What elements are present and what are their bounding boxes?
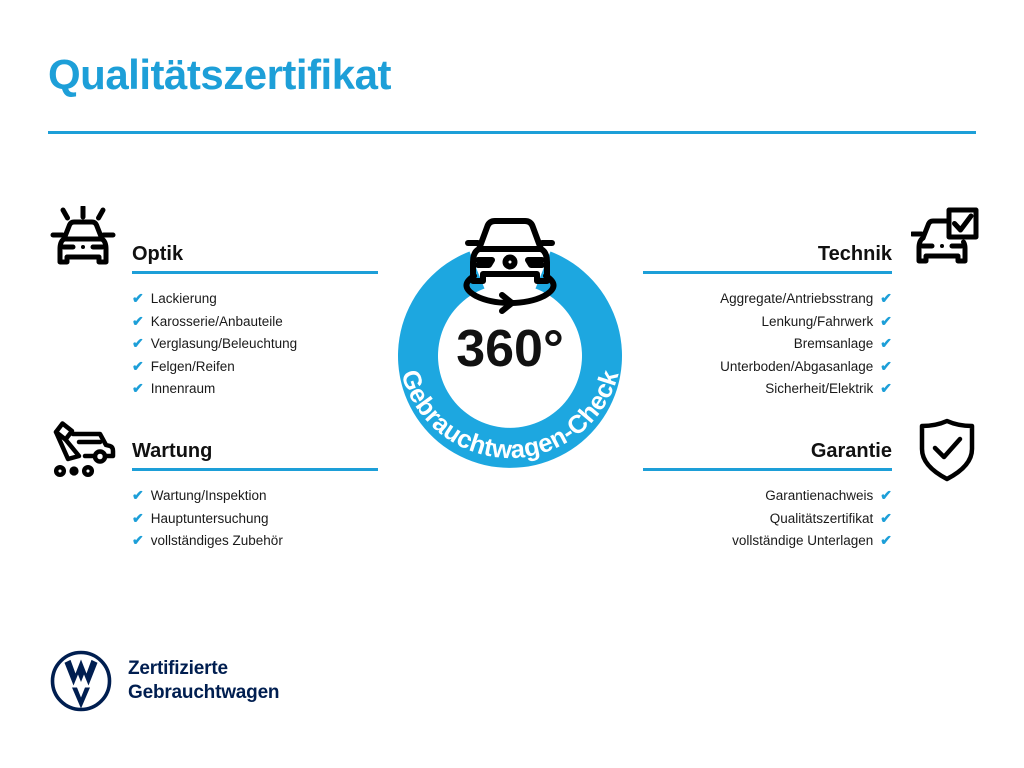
section-technik-list: Aggregate/Antriebsstrang ✔ Lenkung/Fahrw… [643, 288, 892, 401]
check-icon: ✔ [132, 314, 144, 328]
check-icon: ✔ [132, 336, 144, 350]
check-icon: ✔ [880, 488, 892, 502]
check-icon: ✔ [132, 511, 144, 525]
list-item: ✔ Wartung/Inspektion [132, 485, 378, 508]
check-icon: ✔ [880, 359, 892, 373]
check-icon: ✔ [132, 359, 144, 373]
check-icon: ✔ [880, 533, 892, 547]
shield-check-icon [918, 418, 976, 482]
list-item-label: Sicherheit/Elektrik [765, 378, 873, 401]
title-divider [48, 131, 976, 134]
list-item: vollständige Unterlagen ✔ [643, 530, 892, 553]
list-item-label: Bremsanlage [794, 333, 874, 356]
list-item-label: Felgen/Reifen [151, 356, 235, 379]
list-item: ✔ Hauptuntersuchung [132, 508, 378, 531]
badge-center-label: 360° [456, 320, 564, 378]
section-optik-title: Optik [132, 243, 183, 266]
section-garantie-title: Garantie [811, 440, 892, 463]
list-item: ✔ Verglasung/Beleuchtung [132, 333, 378, 356]
check-icon: ✔ [880, 336, 892, 350]
footer-text: Zertifizierte Gebrauchtwagen [128, 657, 279, 706]
list-item-label: vollständiges Zubehör [151, 530, 283, 553]
section-garantie-list: Garantienachweis ✔ Qualitätszertifikat ✔… [643, 485, 892, 553]
list-item-label: Innenraum [151, 378, 216, 401]
section-wartung-header: Wartung [132, 431, 378, 471]
section-garantie-header: Garantie [643, 431, 892, 471]
badge-360-gebrauchtwagen-check: Gebrauchtwagen-Check 360° [360, 196, 660, 496]
list-item: ✔ vollständiges Zubehör [132, 530, 378, 553]
list-item: Garantienachweis ✔ [643, 485, 892, 508]
list-item: ✔ Lackierung [132, 288, 378, 311]
certificate-page: Qualitätszertifikat Optik [0, 0, 1024, 768]
section-technik: Technik Aggregate/Antriebsstrang ✔ Lenku… [643, 234, 892, 401]
list-item-label: Verglasung/Beleuchtung [151, 333, 297, 356]
section-wartung-title: Wartung [132, 440, 212, 463]
list-item: ✔ Felgen/Reifen [132, 356, 378, 379]
list-item-label: Karosserie/Anbauteile [151, 311, 283, 334]
car-shine-icon [48, 206, 118, 272]
list-item: Aggregate/Antriebsstrang ✔ [643, 288, 892, 311]
list-item-label: Lenkung/Fahrwerk [761, 311, 873, 334]
section-wartung-list: ✔ Wartung/Inspektion ✔ Hauptuntersuchung… [132, 485, 378, 553]
list-item-label: Unterboden/Abgasanlage [720, 356, 873, 379]
list-item-label: vollständige Unterlagen [732, 530, 873, 553]
car-rotation-icon [466, 221, 553, 311]
section-wartung: Wartung ✔ Wartung/Inspektion ✔ Hauptunte… [132, 431, 378, 553]
list-item-label: Qualitätszertifikat [770, 508, 874, 531]
vw-certified-logo: Zertifizierte Gebrauchtwagen [50, 650, 279, 712]
section-garantie-divider [643, 468, 892, 471]
list-item: ✔ Karosserie/Anbauteile [132, 311, 378, 334]
section-wartung-divider [132, 468, 378, 471]
list-item: ✔ Innenraum [132, 378, 378, 401]
footer-line-1: Zertifizierte [128, 657, 279, 681]
list-item-label: Hauptuntersuchung [151, 508, 269, 531]
list-item-label: Aggregate/Antriebsstrang [720, 288, 873, 311]
car-checkbox-icon [911, 207, 979, 271]
list-item: Bremsanlage ✔ [643, 333, 892, 356]
section-technik-header: Technik [643, 234, 892, 274]
section-optik-list: ✔ Lackierung ✔ Karosserie/Anbauteile ✔ V… [132, 288, 378, 401]
list-item: Sicherheit/Elektrik ✔ [643, 378, 892, 401]
section-optik-header: Optik [132, 234, 378, 274]
list-item-label: Wartung/Inspektion [151, 485, 267, 508]
check-icon: ✔ [880, 314, 892, 328]
car-pencil-service-icon [48, 418, 118, 478]
list-item-label: Garantienachweis [765, 485, 873, 508]
check-icon: ✔ [132, 488, 144, 502]
list-item: Lenkung/Fahrwerk ✔ [643, 311, 892, 334]
page-title: Qualitätszertifikat [48, 52, 391, 98]
check-icon: ✔ [132, 381, 144, 395]
footer-line-2: Gebrauchtwagen [128, 681, 279, 705]
vw-logo-icon [50, 650, 112, 712]
section-optik-divider [132, 271, 378, 274]
check-icon: ✔ [880, 511, 892, 525]
section-technik-divider [643, 271, 892, 274]
list-item: Unterboden/Abgasanlage ✔ [643, 356, 892, 379]
check-icon: ✔ [132, 533, 144, 547]
check-icon: ✔ [132, 291, 144, 305]
list-item-label: Lackierung [151, 288, 217, 311]
list-item: Qualitätszertifikat ✔ [643, 508, 892, 531]
check-icon: ✔ [880, 381, 892, 395]
section-optik: Optik ✔ Lackierung ✔ Karosserie/Anbautei… [132, 234, 378, 401]
section-garantie: Garantie Garantienachweis ✔ Qualitätszer… [643, 431, 892, 553]
section-technik-title: Technik [818, 243, 892, 266]
check-icon: ✔ [880, 291, 892, 305]
